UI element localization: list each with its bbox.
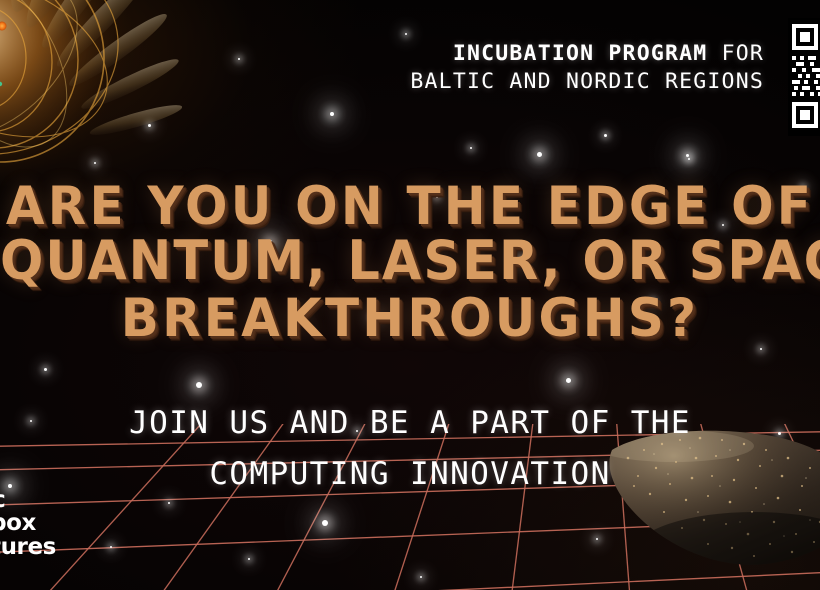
subheading: JOIN US AND BE A PART OF THE COMPUTING I… xyxy=(0,398,820,500)
headline-line-2: QUANTUM, LASER, OR SPACE xyxy=(0,232,820,291)
subheading-line-1: JOIN US AND BE A PART OF THE xyxy=(0,398,820,449)
promo-poster: INCUBATION PROGRAM FOR BALTIC AND NORDIC… xyxy=(0,0,820,590)
header-program-label: INCUBATION PROGRAM xyxy=(453,41,708,66)
headline-line-3: BREAKTHROUGHS? xyxy=(0,288,820,347)
qr-code-icon[interactable] xyxy=(788,18,820,136)
program-header: INCUBATION PROGRAM FOR BALTIC AND NORDIC… xyxy=(410,40,764,96)
header-for-label: FOR xyxy=(707,41,764,66)
brand-logo: tic dbox ntures xyxy=(0,489,56,559)
logo-line-2: dbox xyxy=(0,512,56,535)
subheading-line-2: COMPUTING INNOVATION xyxy=(0,449,820,500)
headline: ARE YOU ON THE EDGE OF QUANTUM, LASER, O… xyxy=(0,178,820,346)
header-line-2: BALTIC AND NORDIC REGIONS xyxy=(410,68,764,96)
logo-line-1: tic xyxy=(0,489,56,512)
header-line-1: INCUBATION PROGRAM FOR xyxy=(410,40,764,68)
logo-line-3: ntures xyxy=(0,536,56,559)
headline-line-1: ARE YOU ON THE EDGE OF xyxy=(0,176,820,235)
